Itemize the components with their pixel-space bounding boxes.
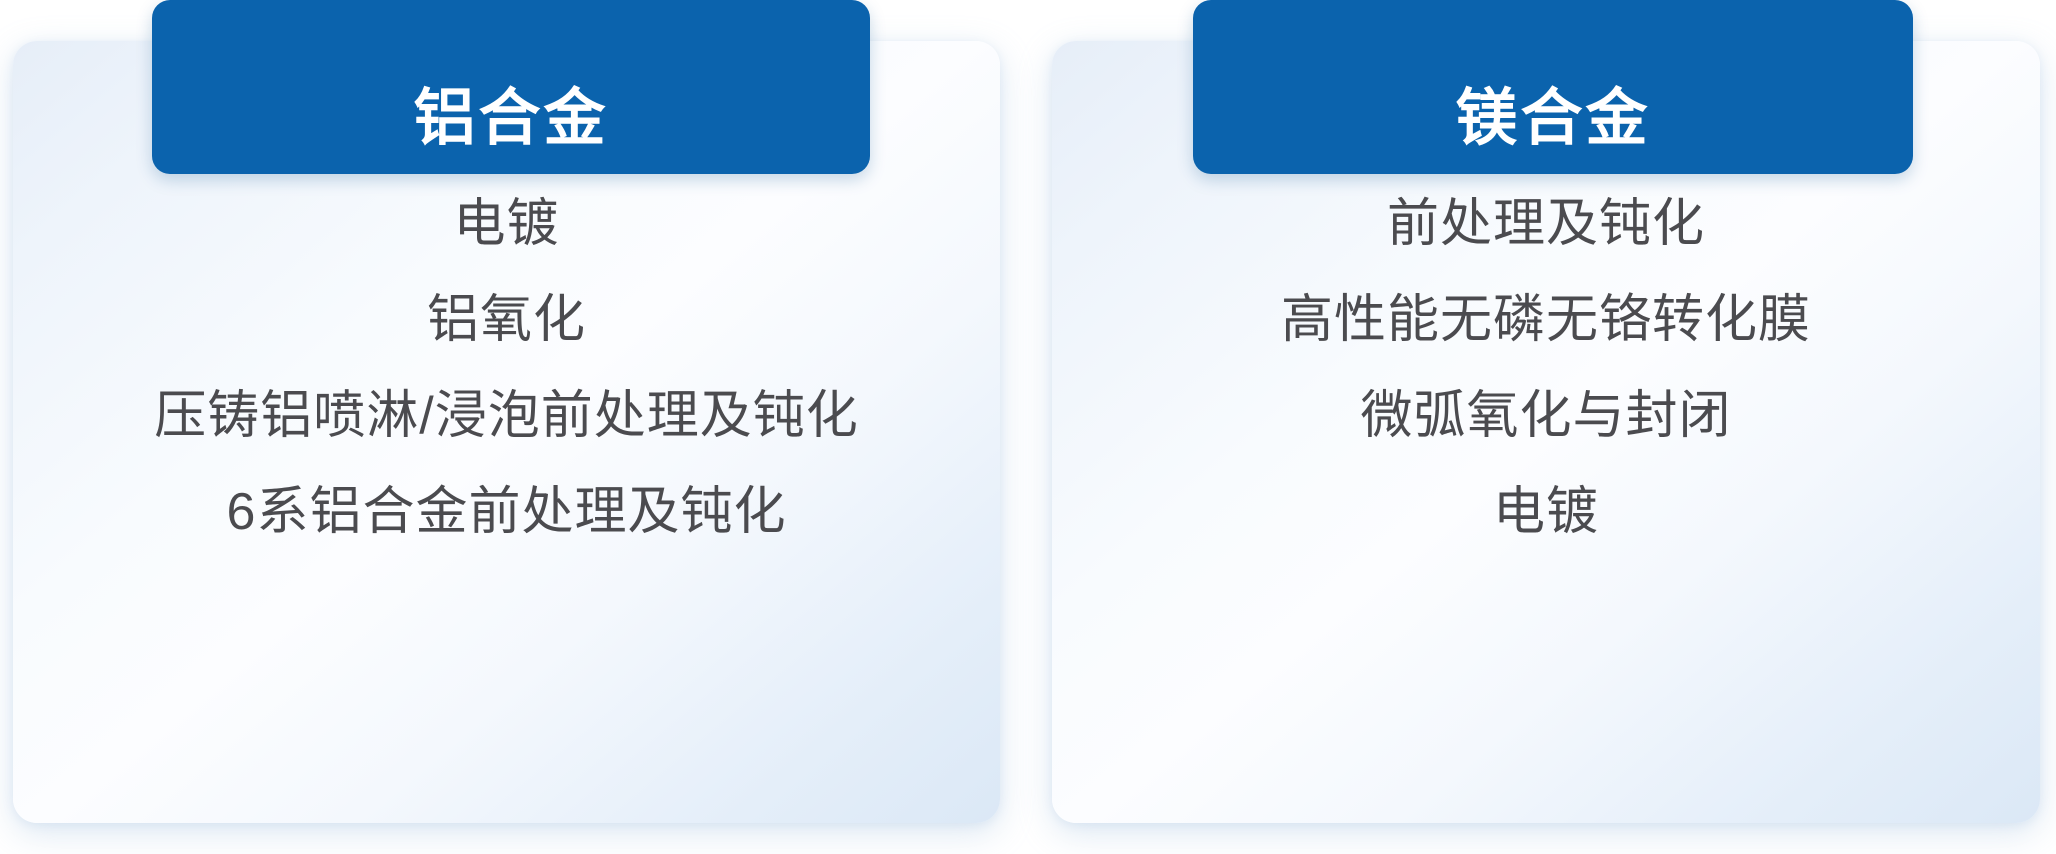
list-item: 压铸铝喷淋/浸泡前处理及钝化 [136, 390, 876, 442]
card-aluminum-alloy: 铝合金 电镀 铝氧化 压铸铝喷淋/浸泡前处理及钝化 6系铝合金前处理及钝化 [13, 41, 1000, 823]
list-item: 高性能无磷无铬转化膜 [1263, 294, 1829, 346]
card-header-aluminum-alloy: 铝合金 [152, 0, 870, 174]
list-item: 电镀 [435, 198, 577, 250]
list-item: 微弧氧化与封闭 [1342, 390, 1749, 442]
card-header-magnesium-alloy: 镁合金 [1193, 0, 1913, 174]
card-body-aluminum-alloy: 电镀 铝氧化 压铸铝喷淋/浸泡前处理及钝化 6系铝合金前处理及钝化 [13, 198, 1000, 538]
card-title-aluminum-alloy: 铝合金 [413, 88, 608, 150]
card-magnesium-alloy: 镁合金 前处理及钝化 高性能无磷无铬转化膜 微弧氧化与封闭 电镀 [1052, 41, 2040, 823]
comparison-cards-canvas: 铝合金 电镀 铝氧化 压铸铝喷淋/浸泡前处理及钝化 6系铝合金前处理及钝化 镁合… [0, 0, 2056, 854]
card-body-magnesium-alloy: 前处理及钝化 高性能无磷无铬转化膜 微弧氧化与封闭 电镀 [1052, 198, 2040, 538]
list-item: 6系铝合金前处理及钝化 [209, 486, 805, 538]
card-title-magnesium-alloy: 镁合金 [1455, 88, 1650, 150]
list-item: 电镀 [1475, 486, 1617, 538]
list-item: 铝氧化 [409, 294, 604, 346]
list-item: 前处理及钝化 [1369, 198, 1723, 250]
